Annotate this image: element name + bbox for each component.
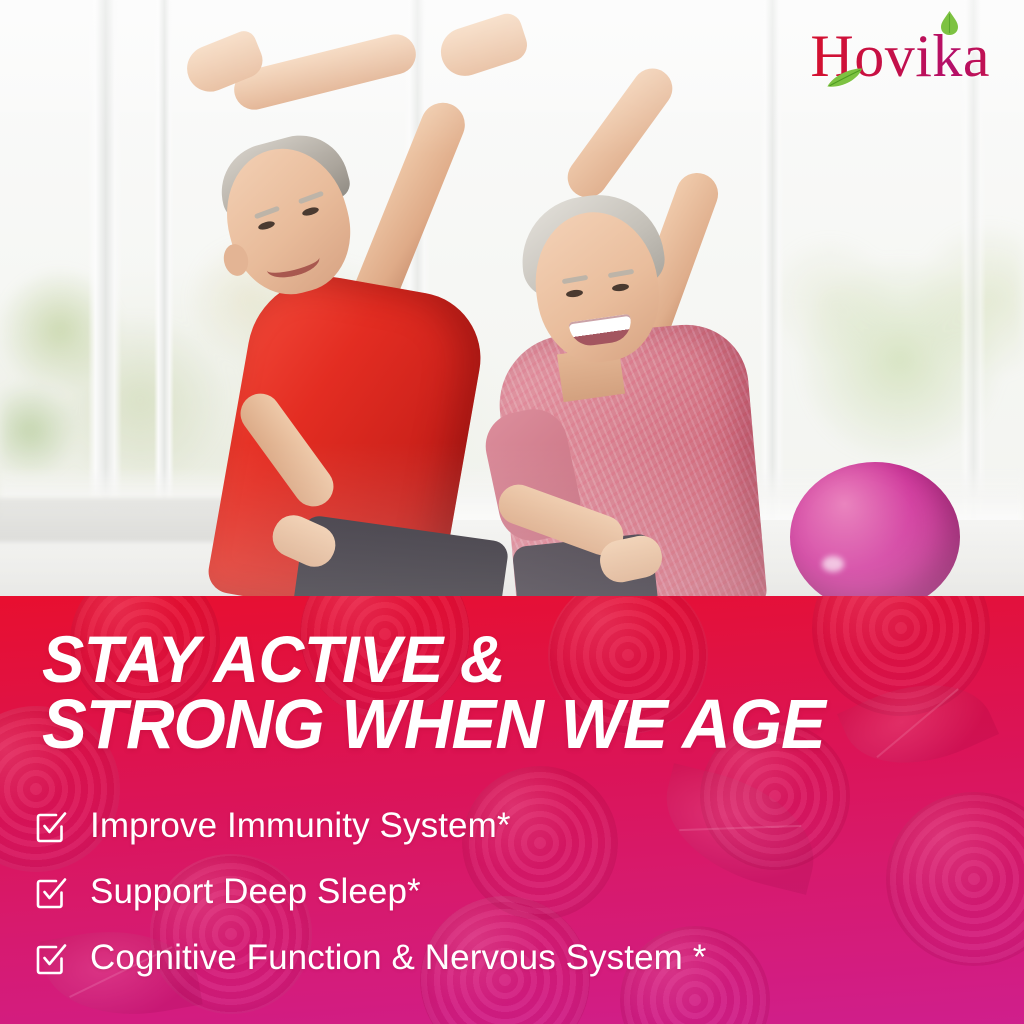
brand-logo[interactable]: Hovika bbox=[810, 26, 990, 86]
leaf-watermark-icon bbox=[837, 657, 999, 791]
headline-line-2: STRONG WHEN WE AGE bbox=[42, 691, 825, 758]
raspberry-icon bbox=[886, 792, 1024, 966]
checkbox-checked-icon bbox=[34, 941, 68, 975]
benefits-list: Improve Immunity System* Support Deep Sl… bbox=[34, 806, 706, 978]
benefit-label: Support Deep Sleep* bbox=[90, 872, 421, 912]
benefit-item: Cognitive Function & Nervous System * bbox=[34, 938, 706, 978]
benefit-item: Support Deep Sleep* bbox=[34, 872, 706, 912]
raspberry-icon bbox=[812, 596, 990, 716]
exercise-ball-highlight bbox=[822, 556, 844, 572]
checkbox-checked-icon bbox=[34, 875, 68, 909]
product-banner: Hovika STAY A bbox=[0, 0, 1024, 1024]
headline: STAY ACTIVE & STRONG WHEN WE AGE bbox=[42, 628, 825, 757]
leaf-flame-icon bbox=[941, 11, 958, 35]
benefit-item: Improve Immunity System* bbox=[34, 806, 706, 846]
headline-line-1: STAY ACTIVE & bbox=[42, 628, 825, 691]
hero-photo bbox=[0, 0, 1024, 598]
benefit-label: Improve Immunity System* bbox=[90, 806, 511, 846]
benefit-label: Cognitive Function & Nervous System * bbox=[90, 938, 706, 978]
checkbox-checked-icon bbox=[34, 809, 68, 843]
